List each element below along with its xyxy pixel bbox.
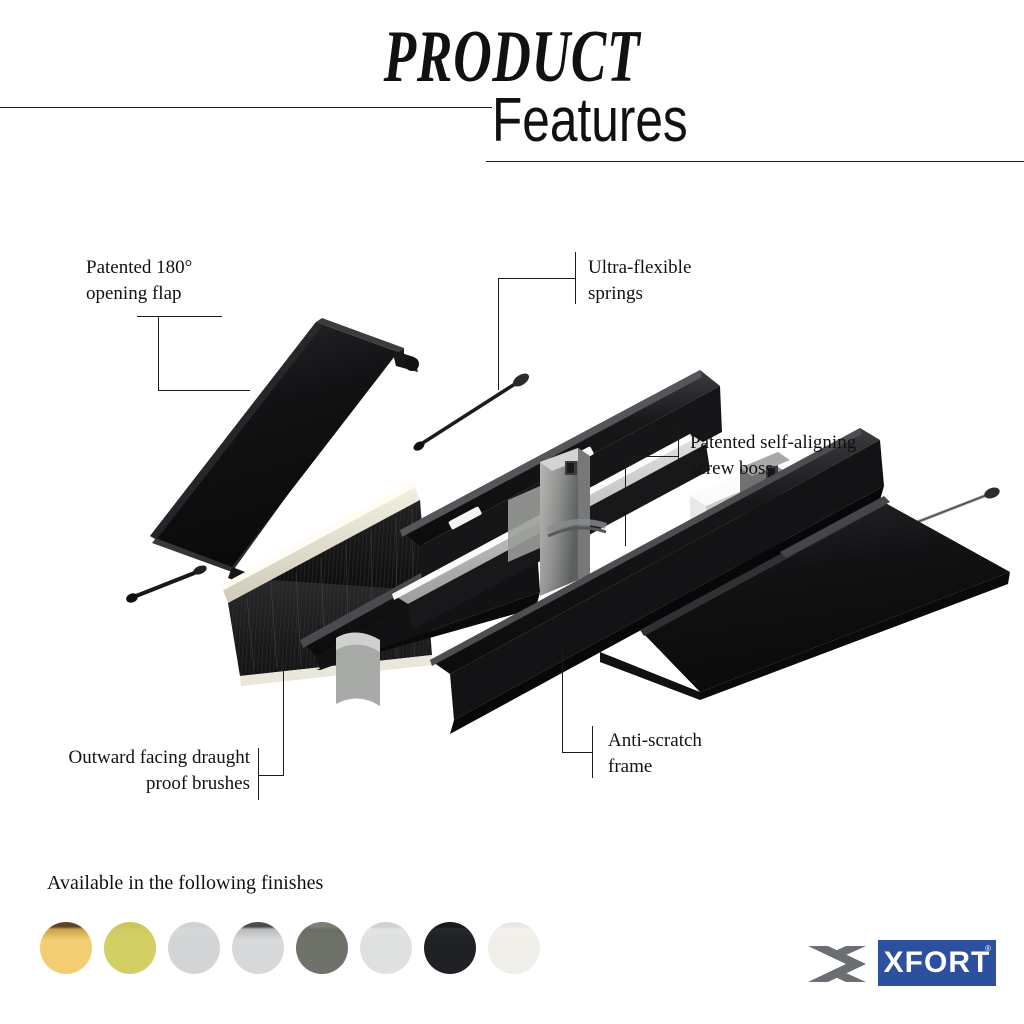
leader-frame-v [562,645,563,753]
swatch-bright-chrome[interactable] [232,922,284,974]
callout-opening-flap-label: Patented 180° opening flap [86,255,316,307]
leader-screw-boss-v [625,456,626,546]
leader-opening-flap-v [158,316,159,390]
page-title-features: Features [492,90,688,152]
leader-brushes-tick [258,748,259,800]
swatch-antique-pewter[interactable] [296,922,348,974]
callout-springs-label: Ultra-flexible springs [588,255,818,307]
spring-pin-center [412,371,531,453]
leader-screw-boss-tick [678,428,679,480]
page-root: PRODUCT Features [0,0,1024,1024]
swatch-polished-chrome[interactable] [168,922,220,974]
swatch-polished-brass[interactable] [40,922,92,974]
page-header: PRODUCT Features [0,0,1024,180]
leader-opening-flap-h2 [158,390,250,391]
page-title-product: PRODUCT [143,20,880,94]
header-rule-top [0,107,492,108]
callout-brushes-label: Outward facing draught proof brushes [10,745,250,797]
leader-screw-boss-h [625,456,679,457]
xfort-logo[interactable]: XFORT ® [806,940,996,988]
xfort-wordmark: XFORT [878,940,996,986]
callout-screw-boss-label: Patented self-aligning screw boss [690,430,930,482]
leader-springs-h [498,278,576,279]
leader-brushes-v [283,640,284,776]
swatch-satin-brass[interactable] [104,922,156,974]
leader-brushes-h [258,775,284,776]
leader-opening-flap-h1 [137,316,222,317]
swatch-matt-black[interactable] [424,922,476,974]
leader-springs-v [498,278,499,390]
finishes-heading: Available in the following finishes [47,872,323,895]
header-rule-bottom [486,161,1024,162]
spring-pin-left [125,564,208,605]
swatch-white[interactable] [488,922,540,974]
leader-frame-h [562,752,593,753]
registered-trademark-icon: ® [985,944,991,953]
swatch-satin-nickel[interactable] [360,922,412,974]
finishes-swatch-row [40,922,500,978]
xfort-wordmark-box: XFORT ® [878,940,996,986]
xfort-x-mark-icon [806,944,868,984]
callout-frame-label: Anti-scratch frame [608,728,808,780]
frame-tongue-left [336,632,380,706]
